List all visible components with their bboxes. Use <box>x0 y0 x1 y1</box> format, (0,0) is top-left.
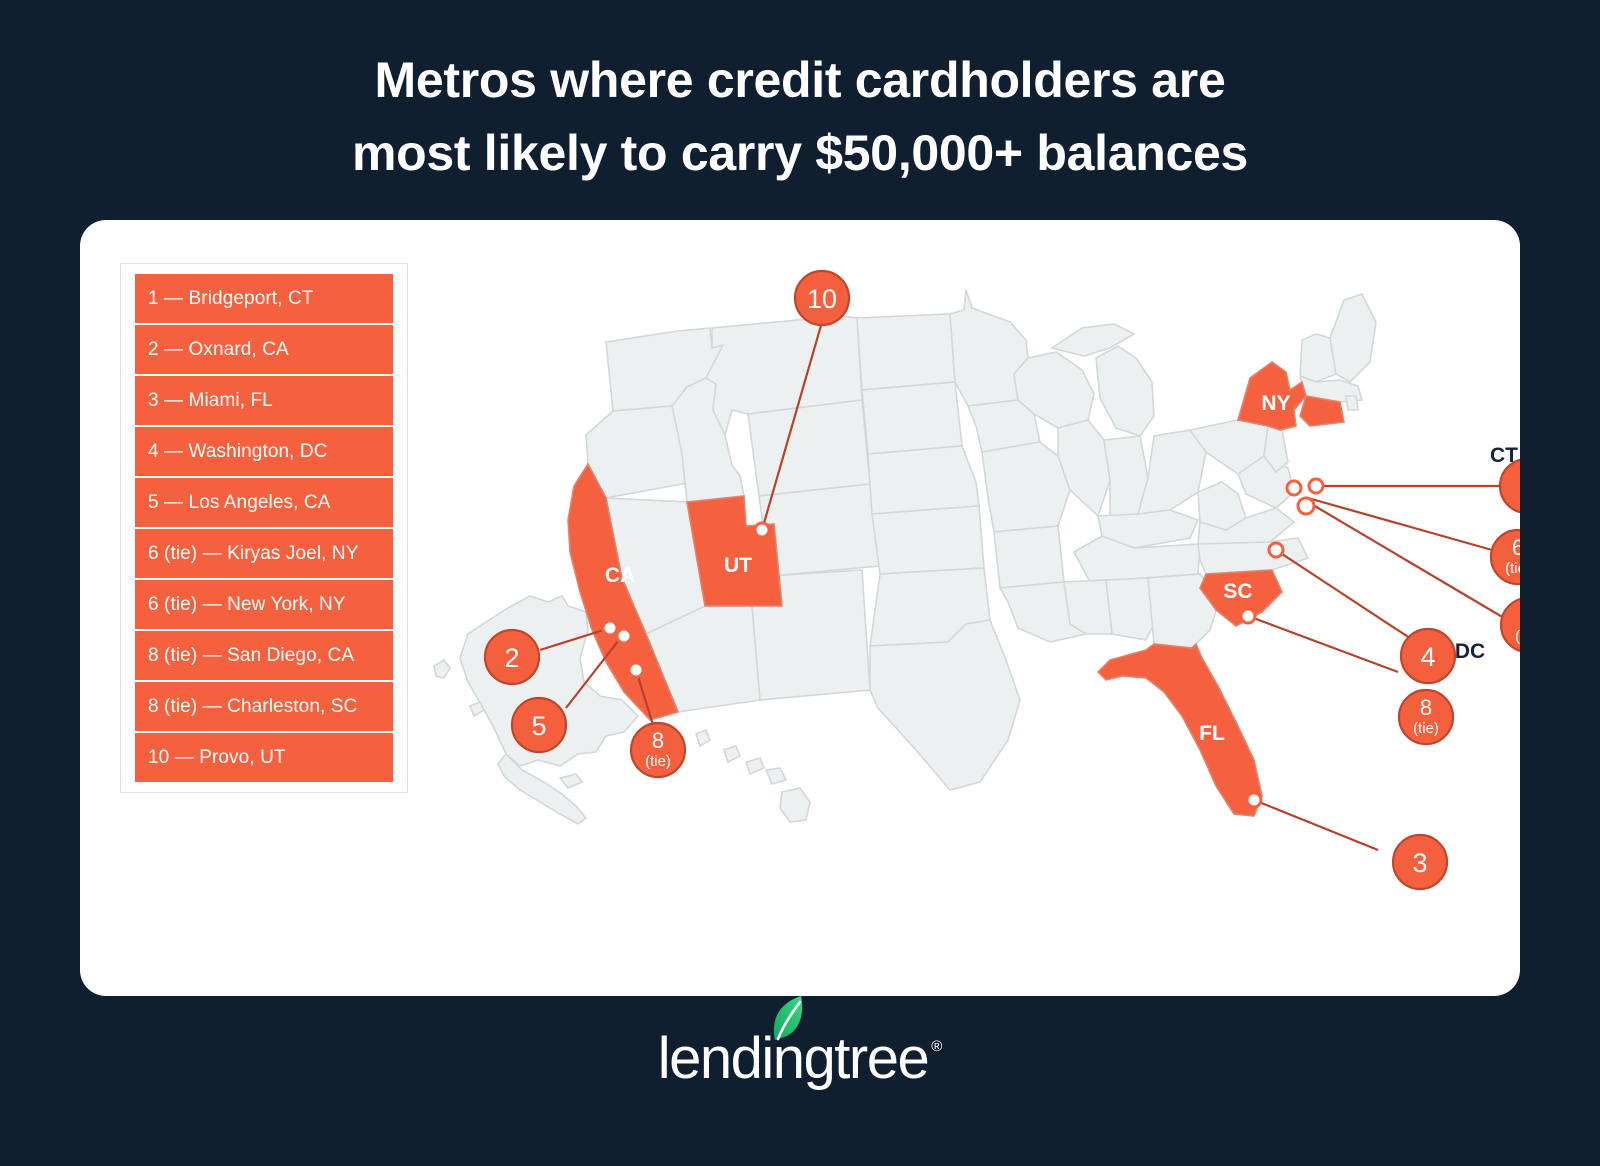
state-ak-island-2 <box>470 702 484 716</box>
state-ak-island-3 <box>560 774 582 788</box>
legend-item-1[interactable]: 1 — Bridgeport, CT <box>135 274 393 323</box>
marker-6-new-york[interactable]: 6 (tie) <box>1501 598 1520 652</box>
svg-text:10: 10 <box>807 284 837 314</box>
legend-item-10[interactable]: 10 — Provo, UT <box>135 733 393 782</box>
svg-text:(tie): (tie) <box>645 753 671 770</box>
anchor-dot-los-angeles <box>617 629 631 643</box>
state-ak-tail <box>498 754 586 824</box>
state-ny-label: NY <box>1261 392 1290 415</box>
brand-logo: lendingtree ® <box>0 1030 1600 1088</box>
state-sc-label: SC <box>1223 580 1252 603</box>
legend-item-2[interactable]: 2 — Oxnard, CA <box>135 325 393 374</box>
legend-item-6[interactable]: 6 (tie) — Kiryas Joel, NY <box>135 529 393 578</box>
state-nd <box>857 314 955 390</box>
legend-panel: 1 — Bridgeport, CT 2 — Oxnard, CA 3 — Mi… <box>120 263 408 793</box>
legend-item-3[interactable]: 3 — Miami, FL <box>135 376 393 425</box>
legend-item-4[interactable]: 4 — Washington, DC <box>135 427 393 476</box>
registered-mark: ® <box>931 1038 942 1055</box>
svg-text:8: 8 <box>1420 695 1432 720</box>
state-oh <box>1138 430 1206 514</box>
map-card: 1 — Bridgeport, CT 2 — Oxnard, CA 3 — Mi… <box>80 220 1520 996</box>
infographic-page: Metros where credit cardholders are most… <box>0 0 1600 1166</box>
state-fl-label: FL <box>1199 722 1225 745</box>
state-mi <box>1096 346 1154 436</box>
anchor-dot-provo <box>755 523 769 537</box>
svg-text:4: 4 <box>1420 642 1435 672</box>
marker-5-los-angeles[interactable]: 5 <box>512 698 566 752</box>
state-me <box>1330 294 1376 382</box>
state-ak-island-1 <box>434 660 450 678</box>
page-title-line-1: Metros where credit cardholders are <box>0 44 1600 117</box>
leader-3 <box>1254 800 1378 850</box>
marker-8-san-diego[interactable]: 8 (tie) <box>631 723 685 777</box>
anchor-dot-oxnard <box>603 621 617 635</box>
state-tx <box>870 620 1020 790</box>
leaf-icon <box>771 996 805 1042</box>
marker-4-washington[interactable]: 4 <box>1401 629 1455 683</box>
state-hi-1 <box>696 730 710 746</box>
state-ca-label: CA <box>605 564 635 587</box>
legend-item-7[interactable]: 6 (tie) — New York, NY <box>135 580 393 629</box>
anchor-dot-washington <box>1269 543 1283 557</box>
anchor-dot-san-diego <box>629 663 643 677</box>
state-hi-3 <box>746 758 764 774</box>
svg-text:3: 3 <box>1412 848 1427 878</box>
state-dc-label: DC <box>1455 640 1485 663</box>
state-ne <box>868 446 979 514</box>
state-nc <box>1198 538 1308 574</box>
svg-text:6: 6 <box>1512 535 1520 560</box>
page-title: Metros where credit cardholders are most… <box>0 44 1600 189</box>
state-ut-label: UT <box>724 554 752 577</box>
state-hi-5 <box>780 788 810 822</box>
svg-text:2: 2 <box>504 643 519 673</box>
anchor-dot-bridgeport <box>1309 479 1323 493</box>
marker-6-kiryas-joel[interactable]: 6 (tie) <box>1491 530 1520 584</box>
marker-2-oxnard[interactable]: 2 <box>485 630 539 684</box>
legend-item-9[interactable]: 8 (tie) — Charleston, SC <box>135 682 393 731</box>
state-wy <box>748 400 870 496</box>
marker-1-bridgeport[interactable]: 1 <box>1500 459 1520 513</box>
state-ri <box>1346 396 1358 410</box>
state-al <box>1106 578 1154 640</box>
svg-text:(tie): (tie) <box>1413 720 1439 737</box>
anchor-dot-miami <box>1247 793 1261 807</box>
marker-3-miami[interactable]: 3 <box>1393 835 1447 889</box>
anchor-dot-kiryas-joel <box>1287 481 1301 495</box>
anchor-dot-charleston <box>1241 609 1255 623</box>
state-ar <box>994 526 1064 588</box>
page-title-line-2: most likely to carry $50,000+ balances <box>0 117 1600 190</box>
state-or <box>586 406 687 498</box>
svg-text:(tie): (tie) <box>1505 560 1520 577</box>
state-sd <box>862 382 962 454</box>
svg-text:5: 5 <box>531 711 546 741</box>
state-fl-highlight <box>1098 644 1262 816</box>
svg-text:1: 1 <box>1519 472 1520 502</box>
leader-6b <box>1308 502 1504 618</box>
marker-8-charleston[interactable]: 8 (tie) <box>1399 690 1453 744</box>
leader-6a <box>1308 498 1492 550</box>
us-map: CA UT NY SC FL <box>410 230 1520 990</box>
state-ks <box>872 506 984 574</box>
svg-text:8: 8 <box>652 728 664 753</box>
svg-text:(tie): (tie) <box>1515 628 1520 645</box>
marker-10-provo[interactable]: 10 <box>795 271 849 325</box>
state-hi-2 <box>724 746 740 762</box>
legend-item-5[interactable]: 5 — Los Angeles, CA <box>135 478 393 527</box>
state-mo <box>982 442 1070 532</box>
anchor-dot-new-york <box>1298 498 1314 514</box>
legend-item-8[interactable]: 8 (tie) — San Diego, CA <box>135 631 393 680</box>
state-hi-4 <box>766 768 786 784</box>
leader-8b <box>1248 616 1398 672</box>
